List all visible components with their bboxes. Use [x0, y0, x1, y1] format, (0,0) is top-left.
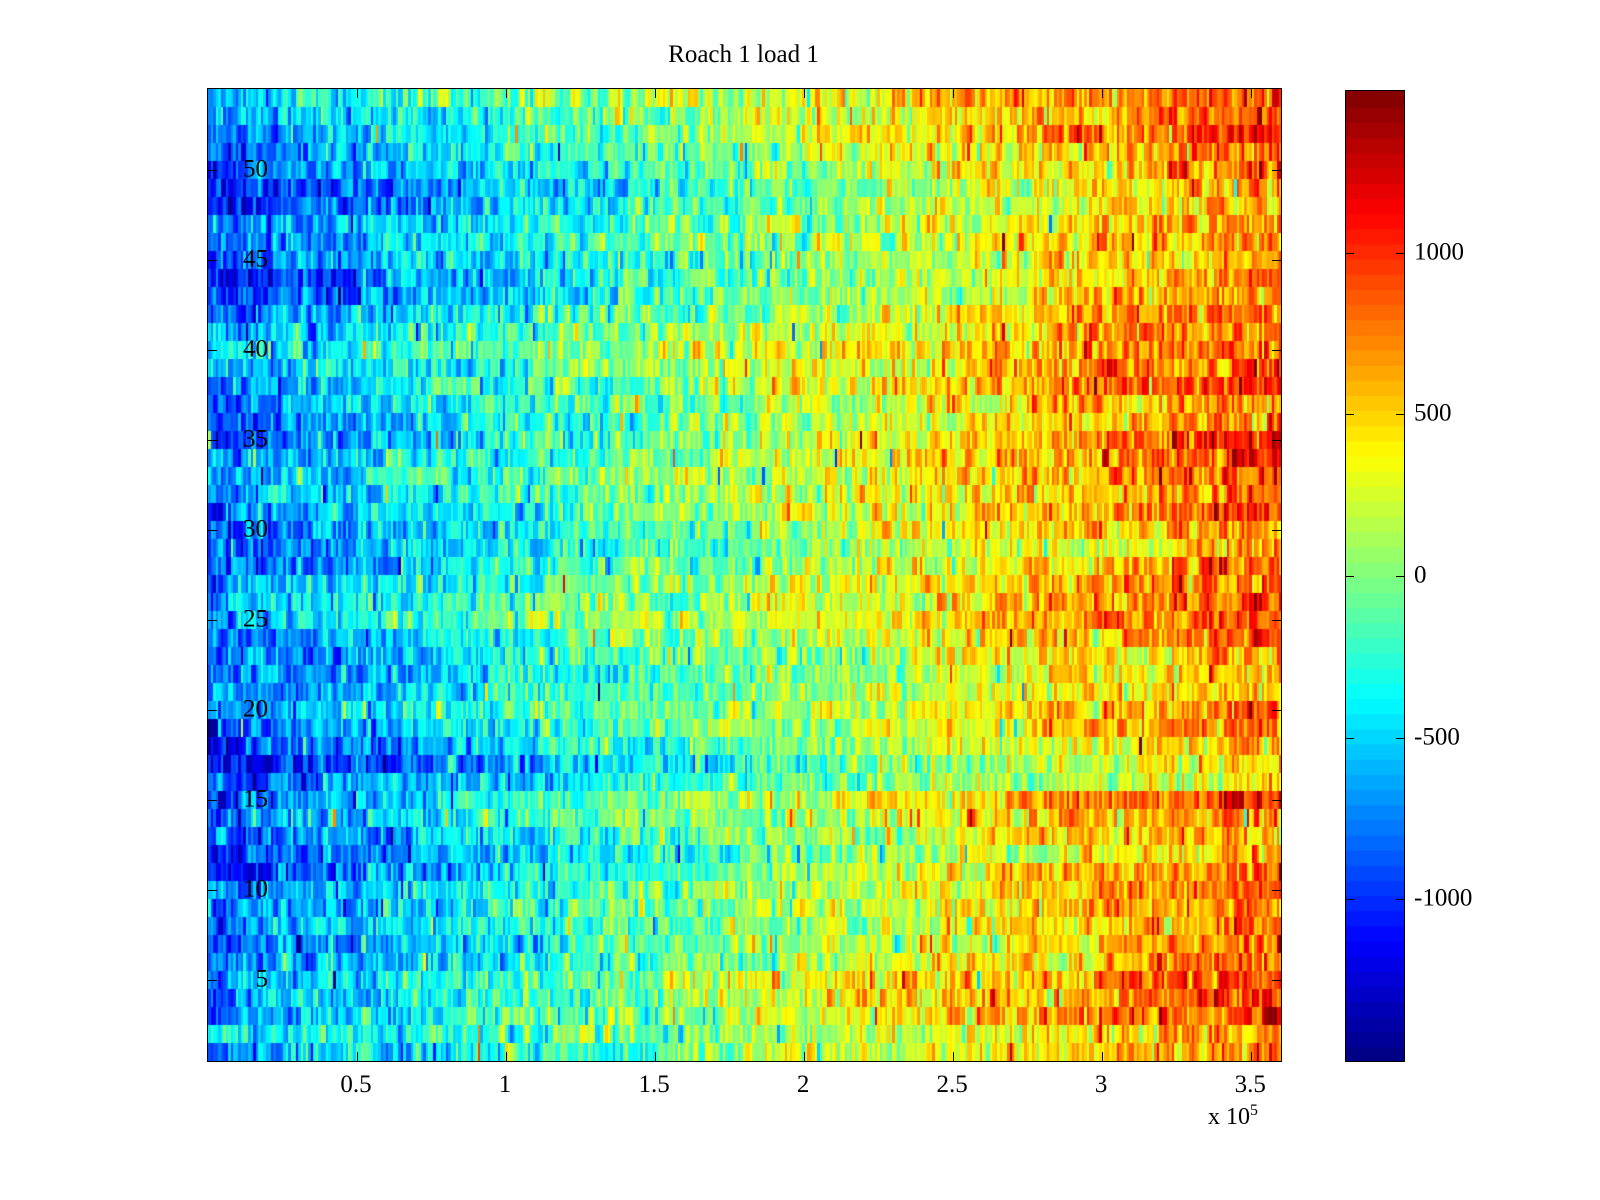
y-tick-label: 50: [243, 157, 268, 182]
y-tick-mark: [208, 800, 217, 801]
colorbar-tick-mark: [1396, 576, 1404, 577]
colorbar-tick-mark: [1396, 253, 1404, 254]
y-tick-label: 35: [243, 427, 268, 452]
y-tick-mark: [208, 170, 217, 171]
y-tick-mark: [208, 350, 217, 351]
colorbar-tick-mark: [1396, 414, 1404, 415]
colorbar-tick-label: -500: [1414, 724, 1460, 749]
y-tick-label: 5: [256, 967, 269, 992]
x-tick-mark: [357, 1052, 358, 1061]
heatmap-image[interactable]: [208, 89, 1281, 1061]
colorbar-tick-mark: [1346, 899, 1354, 900]
x-tick-mark: [357, 89, 358, 98]
y-tick-mark: [1272, 980, 1281, 981]
x-tick-mark: [804, 1052, 805, 1061]
y-tick-label: 20: [243, 697, 268, 722]
y-tick-mark: [1272, 170, 1281, 171]
x-tick-label: 0.5: [340, 1072, 371, 1097]
y-tick-mark: [1272, 530, 1281, 531]
x-tick-mark: [1102, 89, 1103, 98]
y-tick-label: 15: [243, 787, 268, 812]
page-title: Roach 1 load 1: [207, 42, 1280, 67]
colorbar-tick-mark: [1346, 253, 1354, 254]
x-axis-exponent-mantissa: x 10: [1208, 1104, 1250, 1130]
x-tick-mark: [655, 1052, 656, 1061]
y-tick-mark: [1272, 710, 1281, 711]
y-tick-label: 30: [243, 517, 268, 542]
y-tick-mark: [208, 440, 217, 441]
y-tick-mark: [208, 980, 217, 981]
x-tick-label: 1: [499, 1072, 512, 1097]
y-tick-label: 10: [243, 877, 268, 902]
y-tick-mark: [1272, 260, 1281, 261]
x-tick-label: 3: [1095, 1072, 1108, 1097]
colorbar-tick-mark: [1346, 576, 1354, 577]
y-tick-label: 25: [243, 607, 268, 632]
matlab-figure-window: Roach 1 load 1 5101520253035404550 0.511…: [0, 0, 1600, 1200]
heatmap-axes[interactable]: [207, 88, 1282, 1062]
colorbar-tick-label: -1000: [1414, 886, 1472, 911]
y-tick-mark: [1272, 350, 1281, 351]
x-tick-mark: [506, 89, 507, 98]
x-tick-label: 3.5: [1235, 1072, 1266, 1097]
x-tick-mark: [804, 89, 805, 98]
x-tick-mark: [655, 89, 656, 98]
y-tick-mark: [208, 710, 217, 711]
colorbar-tick-mark: [1346, 738, 1354, 739]
colorbar-tick-label: 0: [1414, 563, 1427, 588]
x-tick-label: 2: [797, 1072, 810, 1097]
x-tick-mark: [1251, 89, 1252, 98]
y-tick-mark: [1272, 620, 1281, 621]
x-tick-mark: [506, 1052, 507, 1061]
y-tick-mark: [208, 890, 217, 891]
y-tick-mark: [208, 260, 217, 261]
x-tick-label: 2.5: [937, 1072, 968, 1097]
y-tick-label: 45: [243, 247, 268, 272]
y-tick-mark: [1272, 890, 1281, 891]
x-tick-mark: [953, 89, 954, 98]
x-tick-mark: [953, 1052, 954, 1061]
x-axis-exponent-label: x 105: [1208, 1105, 1258, 1129]
colorbar-tick-label: 500: [1414, 401, 1452, 426]
x-axis-exponent-power: 5: [1250, 1102, 1258, 1119]
y-tick-mark: [208, 530, 217, 531]
colorbar-tick-mark: [1396, 899, 1404, 900]
x-tick-mark: [1251, 1052, 1252, 1061]
colorbar-tick-mark: [1346, 414, 1354, 415]
colorbar-tick-mark: [1396, 738, 1404, 739]
colorbar[interactable]: [1345, 90, 1405, 1062]
x-tick-mark: [1102, 1052, 1103, 1061]
y-tick-mark: [1272, 440, 1281, 441]
y-tick-mark: [1272, 800, 1281, 801]
y-tick-label: 40: [243, 337, 268, 362]
y-tick-mark: [208, 620, 217, 621]
x-tick-label: 1.5: [638, 1072, 669, 1097]
colorbar-tick-label: 1000: [1414, 239, 1464, 264]
